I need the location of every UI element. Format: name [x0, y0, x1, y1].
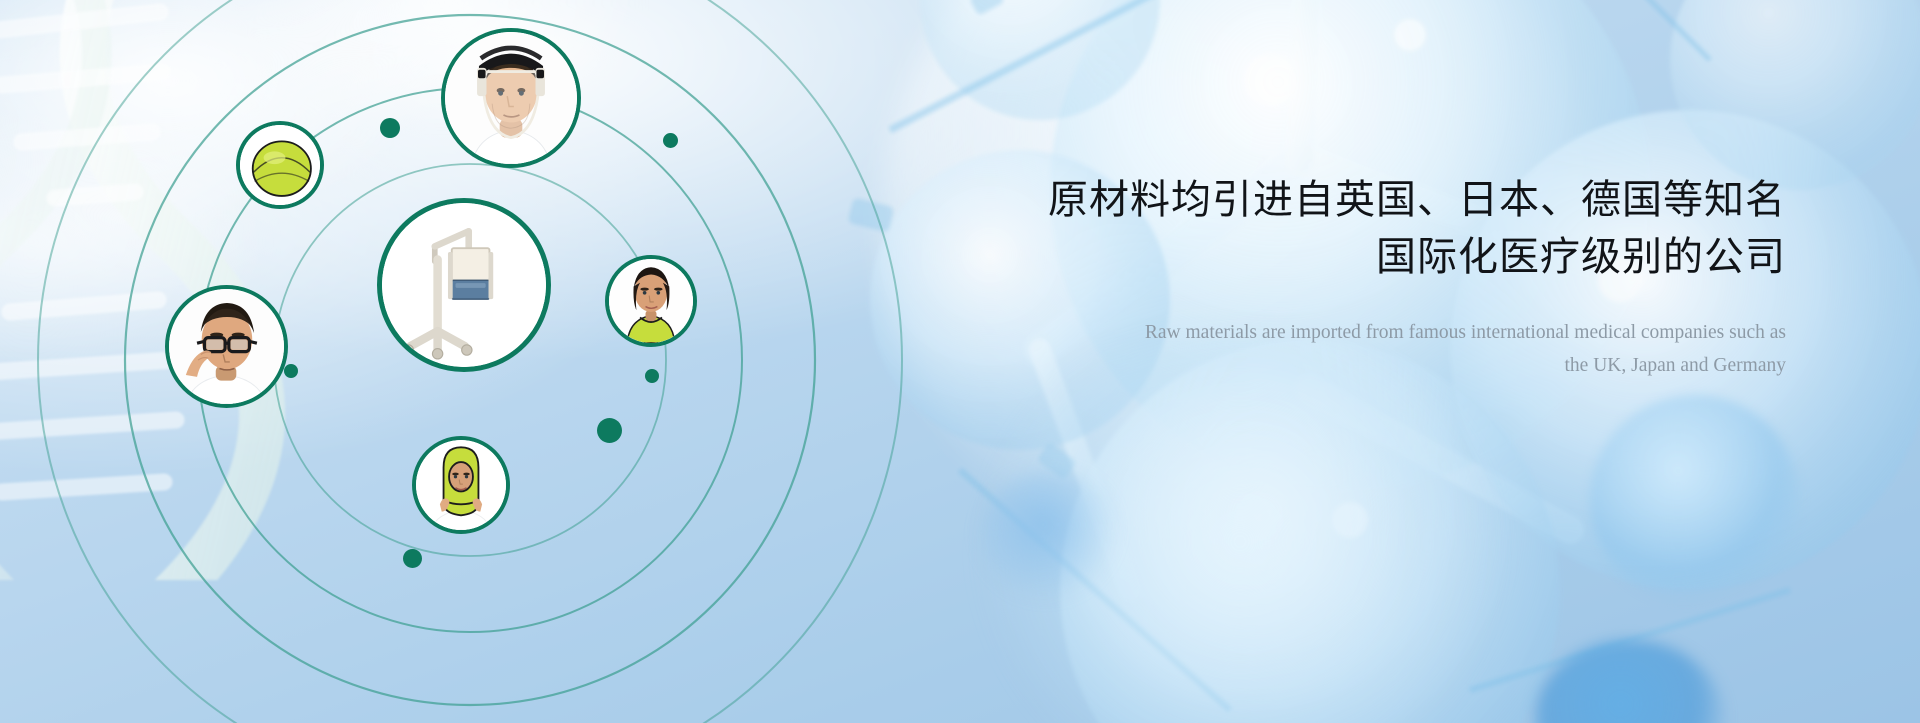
subcopy: Raw materials are imported from famous i…	[996, 316, 1786, 383]
orbit-dot	[380, 118, 400, 138]
bubble-lead-hood-woman[interactable]	[412, 436, 510, 534]
subcopy-line-2: the UK, Japan and Germany	[996, 349, 1786, 383]
orbit-dot	[403, 549, 422, 568]
bubble-mobile-lead-screen-photo	[382, 203, 546, 367]
bubble-lead-cap[interactable]	[236, 121, 324, 209]
orbit-dot	[597, 418, 622, 443]
headline-line-1: 原材料均引进自英国、日本、德国等知名	[1048, 178, 1786, 222]
bubble-lead-cap-photo	[240, 125, 320, 205]
bubble-face-shield-man-photo	[445, 32, 577, 164]
copy-block: 原材料均引进自英国、日本、德国等知名 国际化医疗级别的公司 Raw materi…	[996, 172, 1786, 383]
bubble-lead-hood-woman-photo	[416, 440, 506, 530]
orbit-dot	[645, 369, 659, 383]
bubble-lead-glasses-man[interactable]	[165, 285, 288, 408]
bubble-thyroid-collar-woman[interactable]	[605, 255, 697, 347]
blue-sphere-center	[980, 470, 1120, 600]
bubble-thyroid-collar-woman-photo	[609, 259, 693, 343]
bubble-mobile-lead-screen[interactable]	[377, 198, 551, 372]
orbit-dot	[284, 364, 298, 378]
subcopy-line-1: Raw materials are imported from famous i…	[1145, 322, 1786, 343]
blue-sphere-right	[1590, 395, 1800, 605]
headline-line-2: 国际化医疗级别的公司	[996, 229, 1786, 286]
hero-banner: 原材料均引进自英国、日本、德国等知名 国际化医疗级别的公司 Raw materi…	[0, 0, 1920, 723]
orbit-dot	[663, 133, 678, 148]
bubble-lead-glasses-man-photo	[169, 289, 284, 404]
bubble-face-shield-man[interactable]	[441, 28, 581, 168]
headline: 原材料均引进自英国、日本、德国等知名 国际化医疗级别的公司	[996, 172, 1786, 286]
